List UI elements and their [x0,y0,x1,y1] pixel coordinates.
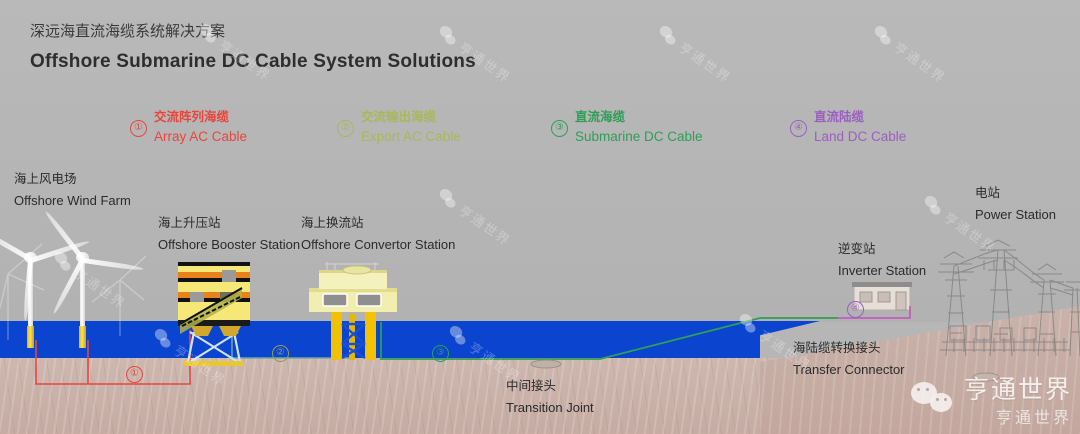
legend-label-cn-1: 交流阵列海缆 [154,106,229,125]
page-title-en: Offshore Submarine DC Cable System Solut… [30,51,476,73]
label-cn-offshore-wind-farm: 海上风电场 [14,168,131,187]
legend-label-en-1: Array AC Cable [154,129,247,144]
legend-label-en-3: Submarine DC Cable [575,129,703,144]
label-transfer-connector: 海陆缆转换接头Transfer Connector [793,337,905,377]
label-inverter-station: 逆变站Inverter Station [838,238,926,278]
label-en-transition-joint: Transition Joint [506,400,594,415]
label-en-offshore-convertor-station: Offshore Convertor Station [301,237,455,252]
label-offshore-booster-station: 海上升压站Offshore Booster Station [158,212,300,252]
legend-label-en-2: Export AC Cable [361,129,461,144]
diagram-marker-2: ② [272,345,289,362]
label-en-offshore-booster-station: Offshore Booster Station [158,237,300,252]
legend-number-3: ③ [551,120,568,137]
legend-label-cn-4: 直流陆缆 [814,106,864,125]
wechat-icon [911,382,955,416]
submarine-dc-cable-path [381,318,838,359]
label-cn-offshore-convertor-station: 海上换流站 [301,212,455,231]
label-en-power-station: Power Station [975,207,1056,222]
legend-number-4: ④ [790,120,807,137]
label-offshore-convertor-station: 海上换流站Offshore Convertor Station [301,212,455,252]
page-title-cn: 深远海直流海缆系统解决方案 [30,20,225,41]
offshore-booster-station [168,262,260,370]
legend-label-cn-2: 交流输出海缆 [361,106,436,125]
brand-name-primary: 亨通世界 [964,370,1072,406]
label-offshore-wind-farm: 海上风电场Offshore Wind Farm [14,168,131,208]
brand-name-secondary: 亨通世界 [964,404,1072,428]
label-cn-transition-joint: 中间接头 [506,375,594,394]
offshore-convertor-station [305,262,401,362]
label-en-offshore-wind-farm: Offshore Wind Farm [14,193,131,208]
legend-number-1: ① [130,120,147,137]
label-cn-power-station: 电站 [975,182,1056,201]
label-en-inverter-station: Inverter Station [838,263,926,278]
label-transition-joint: 中间接头Transition Joint [506,375,594,415]
label-cn-offshore-booster-station: 海上升压站 [158,212,300,231]
diagram-marker-3: ③ [432,345,449,362]
background-turbines [0,240,150,350]
label-cn-transfer-connector: 海陆缆转换接头 [793,337,905,356]
transition-joint-marker [531,360,561,368]
diagram-marker-4: ④ [847,301,864,318]
diagram-canvas: 深远海直流海缆系统解决方案 Offshore Submarine DC Cabl… [0,0,1080,434]
legend-label-cn-3: 直流海缆 [575,106,625,125]
label-en-transfer-connector: Transfer Connector [793,362,905,377]
legend-number-2: ② [337,120,354,137]
label-cn-inverter-station: 逆变站 [838,238,926,257]
wechat-brand-badge: 亨通世界 亨通世界 [911,370,1072,428]
diagram-marker-1: ① [126,366,143,383]
label-power-station: 电站Power Station [975,182,1056,222]
legend-label-en-4: Land DC Cable [814,129,906,144]
